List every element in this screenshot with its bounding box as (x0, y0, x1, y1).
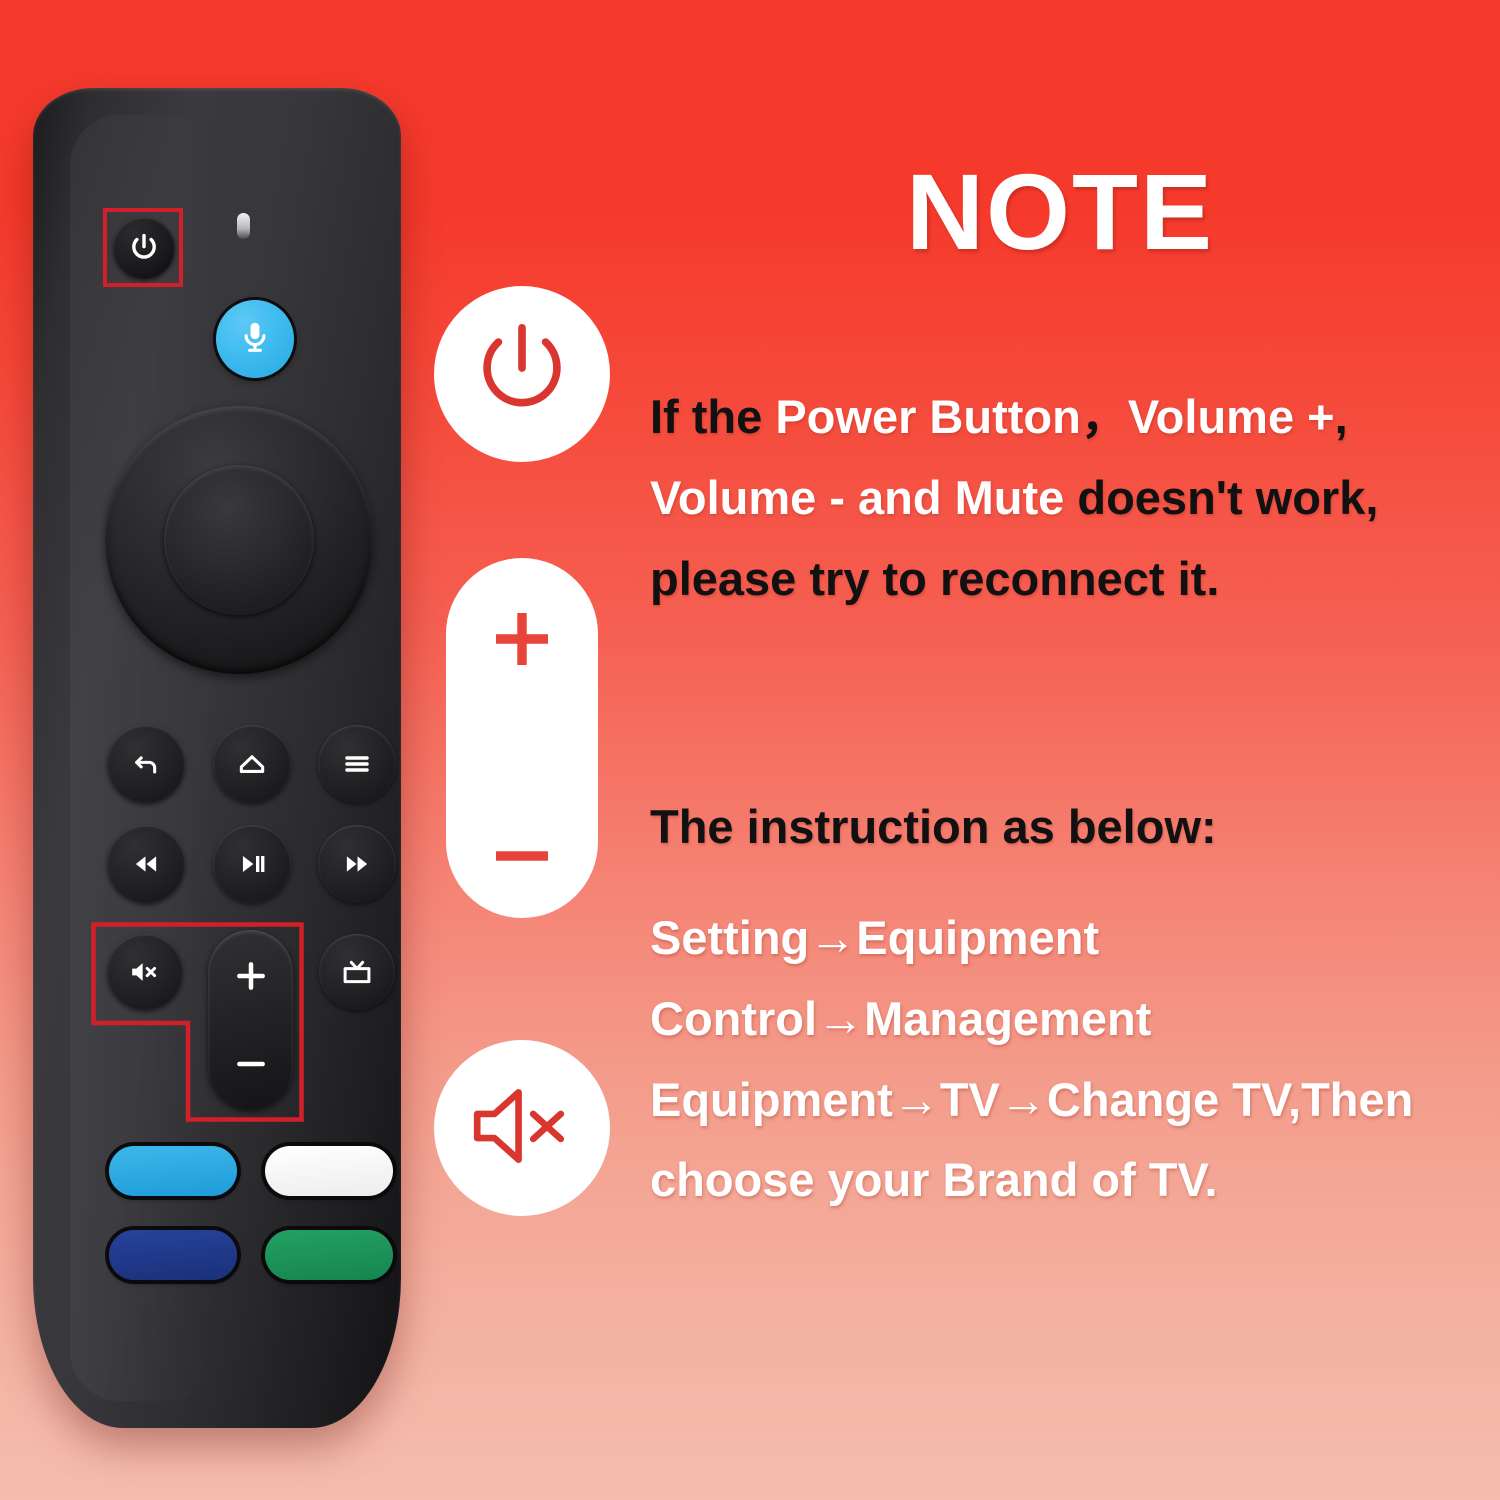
minus-icon (483, 841, 561, 876)
remote-microphone-button[interactable] (216, 300, 294, 378)
home-icon (236, 748, 268, 780)
remote-back-button[interactable] (107, 725, 185, 803)
badge-power-icon (434, 286, 610, 462)
page-title: NOTE (650, 158, 1470, 266)
remote-home-button[interactable] (213, 725, 291, 803)
rewind-icon (130, 848, 162, 880)
remote-app-shortcut-3[interactable] (109, 1230, 237, 1280)
menu-hamburger-icon (341, 748, 373, 780)
remote-app-shortcut-1[interactable] (109, 1146, 237, 1196)
warning-text-1: If the (650, 390, 775, 443)
warning-separator-2: , (1335, 390, 1348, 443)
remote-play-pause-button[interactable] (213, 825, 291, 903)
badge-volume-icon (446, 558, 598, 918)
power-button-highlight (103, 208, 183, 287)
status-led-indicator (237, 213, 250, 239)
fast-forward-icon (341, 848, 373, 880)
instruction-heading: The instruction as below: (650, 787, 1480, 868)
warning-volume-down-mute-label: Volume - and Mute (650, 471, 1064, 524)
microphone-icon (236, 318, 274, 361)
remote-dpad[interactable] (105, 406, 373, 674)
warning-separator-1: ， (1081, 390, 1128, 443)
play-pause-icon (236, 848, 268, 880)
remote-tv-button[interactable] (319, 934, 395, 1010)
badge-mute-icon (434, 1040, 610, 1216)
remote-fast-forward-button[interactable] (318, 825, 396, 903)
remote-rewind-button[interactable] (107, 825, 185, 903)
power-icon (463, 313, 581, 436)
tv-icon (340, 955, 374, 989)
warning-volume-up-label: Volume + (1128, 390, 1335, 443)
remote-select-button[interactable] (164, 465, 314, 615)
remote-app-shortcut-2[interactable] (265, 1146, 393, 1196)
instruction-path: Setting→Equipment Control→Management Equ… (650, 898, 1480, 1221)
volume-mute-highlight (91, 922, 304, 1122)
plus-icon (483, 600, 561, 683)
remote-control (33, 88, 401, 1428)
remote-app-shortcut-4[interactable] (265, 1230, 393, 1280)
warning-power-button-label: Power Button (775, 390, 1080, 443)
back-arrow-icon (130, 748, 162, 780)
warning-paragraph: If the Power Button，Volume +, Volume - a… (650, 377, 1480, 619)
remote-menu-button[interactable] (318, 725, 396, 803)
mute-icon (466, 1074, 578, 1183)
